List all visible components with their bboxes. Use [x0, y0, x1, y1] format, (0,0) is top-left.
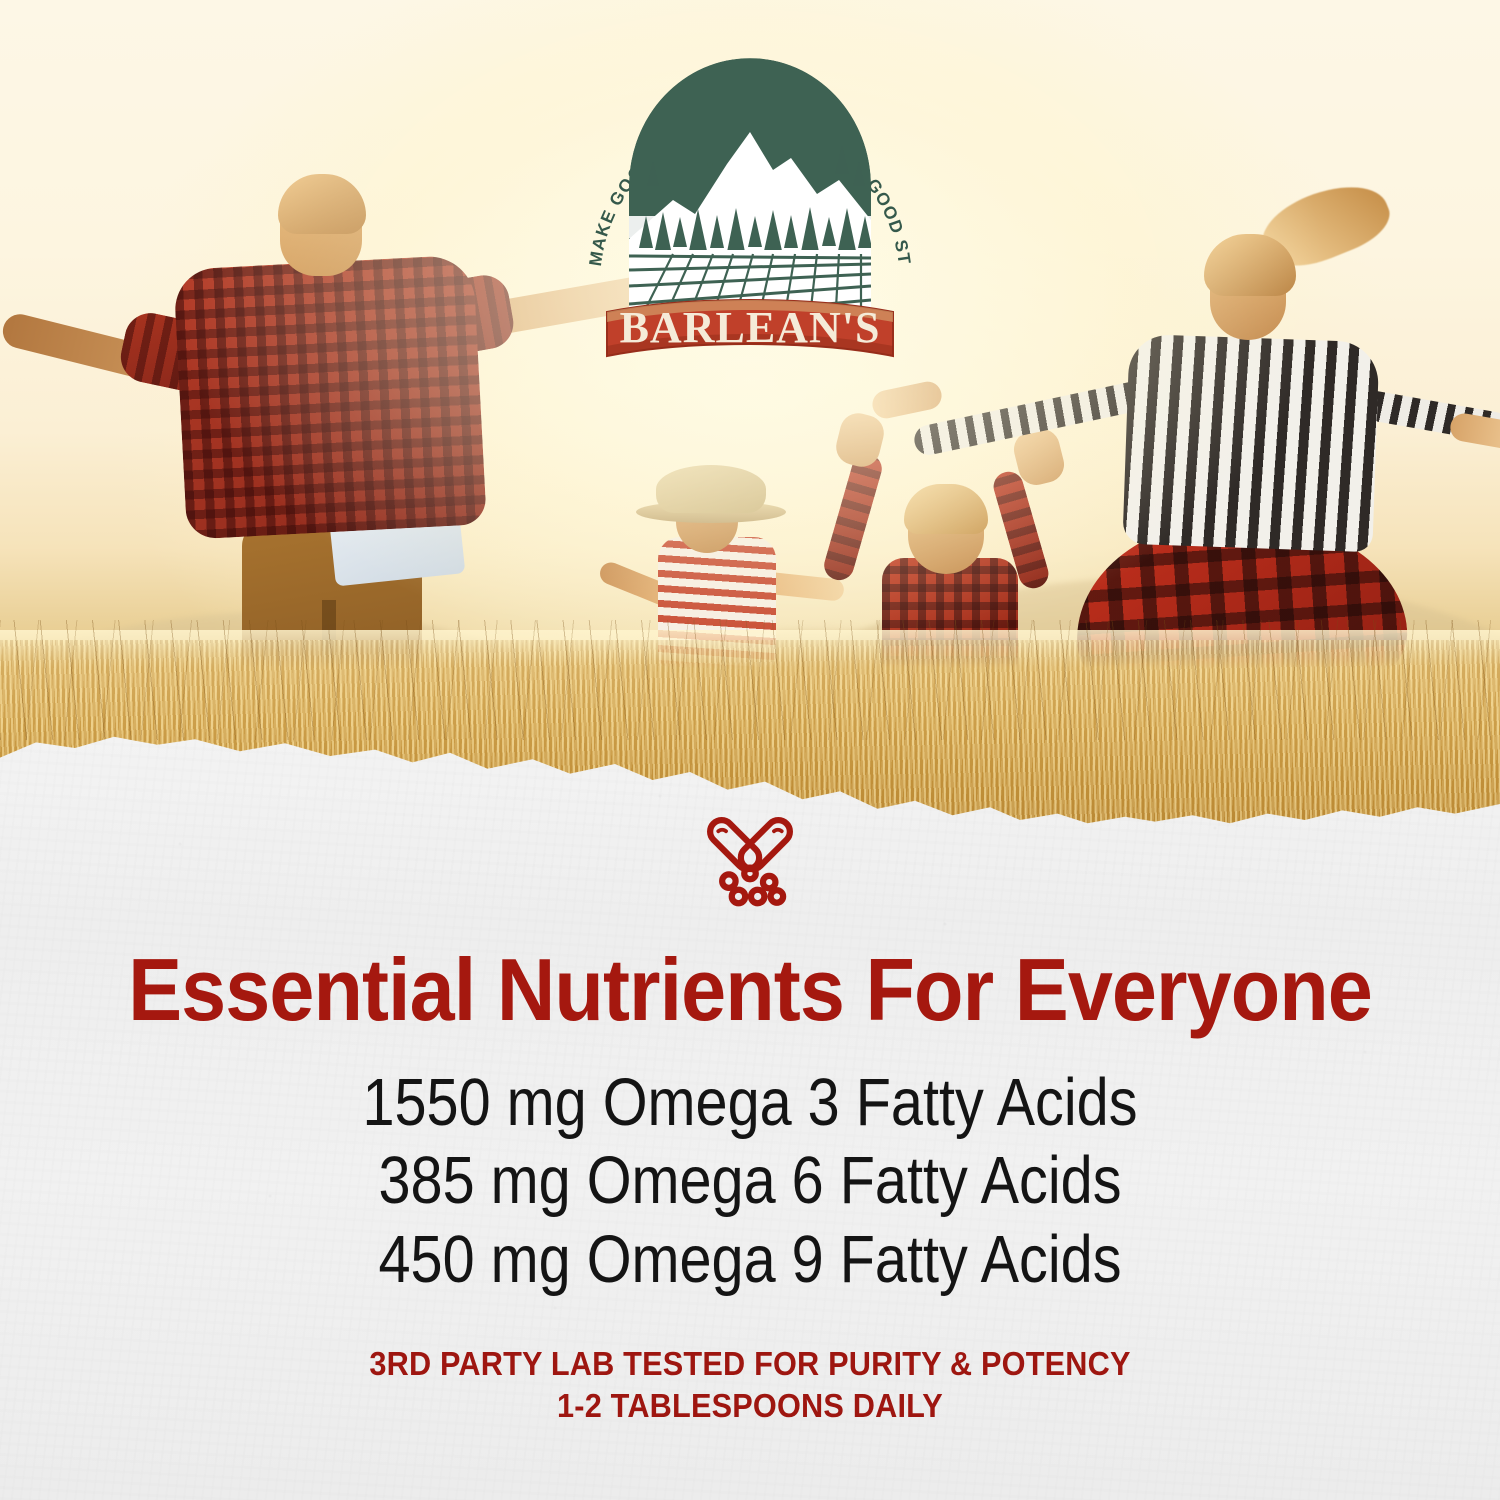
note-lab-tested: 3RD PARTY LAB TESTED FOR PURITY & POTENC…: [53, 1343, 1448, 1385]
brand-name: BARLEAN'S: [620, 303, 881, 352]
content-block: Essential Nutrients For Everyone 1550 mg…: [0, 800, 1500, 1428]
girl-straw-hat: [656, 465, 766, 513]
product-marketing-poster: WE MAKE GOOD STUFF SO YOU CAN DO GOOD ST…: [0, 0, 1500, 1500]
page-headline: Essential Nutrients For Everyone: [60, 946, 1440, 1034]
mother-left-arm: [912, 376, 1163, 457]
boy-left-arm: [821, 450, 886, 583]
brand-logo: WE MAKE GOOD STUFF SO YOU CAN DO GOOD ST…: [577, 34, 923, 364]
nutrient-fact-omega6: 385 mg Omega 6 Fatty Acids: [105, 1142, 1395, 1220]
brand-ribbon: BARLEAN'S: [607, 300, 893, 356]
father-hair: [278, 174, 366, 234]
nutrient-fact-omega3: 1550 mg Omega 3 Fatty Acids: [105, 1064, 1395, 1142]
footer-notes: 3RD PARTY LAB TESTED FOR PURITY & POTENC…: [0, 1343, 1500, 1427]
mother-striped-top: [1122, 334, 1379, 553]
wheat-stalks: [0, 620, 1500, 740]
barleans-logo-svg: WE MAKE GOOD STUFF SO YOU CAN DO GOOD ST…: [577, 34, 923, 364]
note-dosage: 1-2 TABLESPOONS DAILY: [53, 1385, 1448, 1427]
nutrient-facts-list: 1550 mg Omega 3 Fatty Acids 385 mg Omega…: [0, 1064, 1500, 1299]
mother-right-hand: [1448, 411, 1500, 452]
mother-left-hand: [870, 379, 944, 421]
capsules-with-granules-icon: [702, 812, 798, 908]
nutrient-fact-omega9: 450 mg Omega 9 Fatty Acids: [105, 1221, 1395, 1299]
father-plaid-shirt: [173, 254, 487, 539]
badge-scene: [629, 58, 872, 326]
